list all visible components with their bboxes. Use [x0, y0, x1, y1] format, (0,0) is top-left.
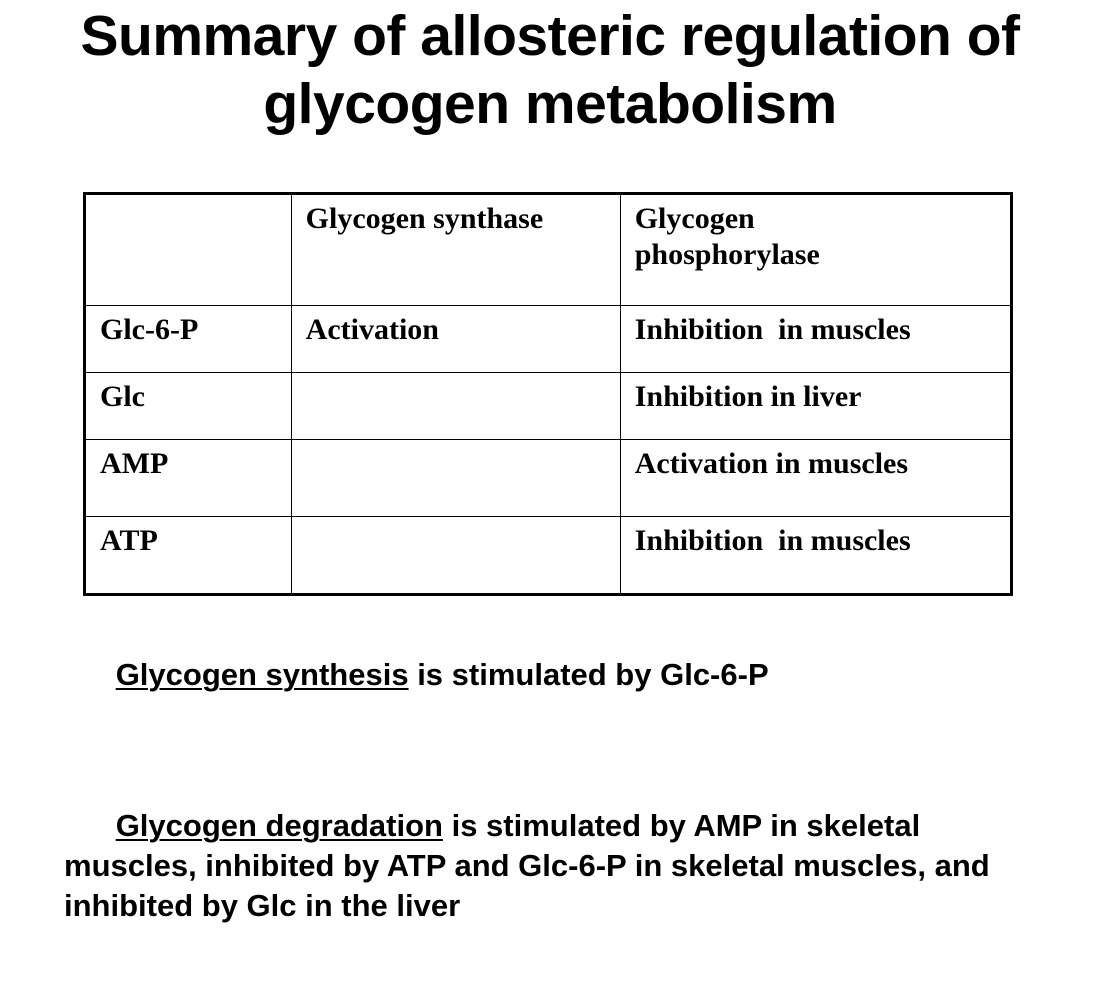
- cell-glycogen-synthase: Activation: [291, 306, 620, 373]
- note-glycogen-degradation: Glycogen degradation is stimulated by AM…: [64, 766, 1044, 966]
- note-synthesis-underlined-term: Glycogen synthesis: [116, 657, 409, 692]
- table-row: AMP Activation in muscles: [85, 440, 1012, 517]
- cell-glycogen-phosphorylase: Activation in muscles: [620, 440, 1011, 517]
- cell-glycogen-phosphorylase: Inhibition in liver: [620, 373, 1011, 440]
- cell-glycogen-phosphorylase: Inhibition in muscles: [620, 306, 1011, 373]
- cell-effector: Glc: [85, 373, 292, 440]
- cell-effector: ATP: [85, 517, 292, 595]
- table-header: Glycogen synthase Glycogen phosphorylase: [85, 194, 1012, 306]
- slide-canvas: Summary of allosteric regulation of glyc…: [0, 0, 1100, 802]
- cell-effector: Glc-6-P: [85, 306, 292, 373]
- table-row: ATP Inhibition in muscles: [85, 517, 1012, 595]
- table-row: Glc Inhibition in liver: [85, 373, 1012, 440]
- cell-glycogen-phosphorylase: Inhibition in muscles: [620, 517, 1011, 595]
- note-synthesis-text: is stimulated by Glc-6-P: [409, 657, 769, 692]
- cell-glycogen-synthase: [291, 373, 620, 440]
- column-header-glycogen-synthase: Glycogen synthase: [291, 194, 620, 306]
- note-glycogen-synthesis: Glycogen synthesis is stimulated by Glc-…: [64, 615, 1044, 735]
- notes-section: Glycogen synthesis is stimulated by Glc-…: [64, 584, 1044, 997]
- cell-glycogen-synthase: [291, 517, 620, 595]
- column-header-effector: [85, 194, 292, 306]
- note-degradation-underlined-term: Glycogen degradation: [116, 808, 443, 843]
- page-title: Summary of allosteric regulation of glyc…: [40, 2, 1060, 138]
- cell-effector: AMP: [85, 440, 292, 517]
- regulation-table-container: Glycogen synthase Glycogen phosphorylase…: [83, 192, 1013, 560]
- table-row: Glc-6-P Activation Inhibition in muscles: [85, 306, 1012, 373]
- table-header-row: Glycogen synthase Glycogen phosphorylase: [85, 194, 1012, 306]
- allosteric-regulation-table: Glycogen synthase Glycogen phosphorylase…: [83, 192, 1013, 596]
- column-header-glycogen-phosphorylase: Glycogen phosphorylase: [620, 194, 1011, 306]
- table-body: Glc-6-P Activation Inhibition in muscles…: [85, 306, 1012, 595]
- cell-glycogen-synthase: [291, 440, 620, 517]
